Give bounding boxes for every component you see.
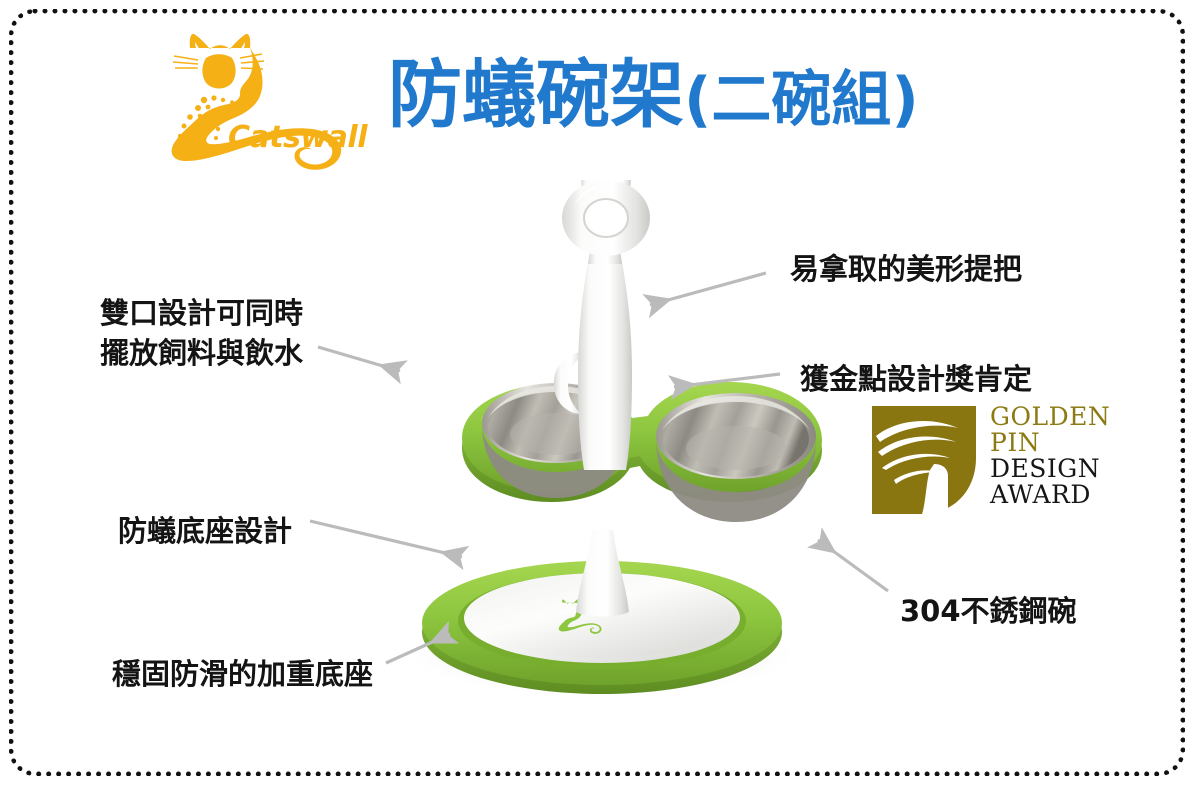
- cat-body-column: [578, 262, 632, 470]
- award-line-design: DESIGN: [990, 456, 1110, 482]
- award-line-golden: GOLDEN: [990, 404, 1110, 430]
- annotation-handle-line1: 易拿取的美形提把: [790, 250, 1022, 288]
- page-title: 防蟻碗架(二碗組): [388, 58, 919, 132]
- page-title-sub: (二碗組): [684, 65, 919, 135]
- annotation-handle: 易拿取的美形提把: [790, 250, 1022, 288]
- cat-ring-handle: [562, 180, 650, 256]
- center-post: [576, 530, 629, 617]
- award-line-pin: PIN: [990, 430, 1110, 456]
- annotation-anti-ant-base-line1: 防蟻底座設計: [118, 512, 292, 550]
- infographic-canvas: Catswall 防蟻碗架(二碗組): [0, 0, 1200, 791]
- annotation-steel-bowl: 304不銹鋼碗: [900, 592, 1077, 630]
- award-line-award: AWARD: [990, 482, 1110, 508]
- annotation-award: 獲金點設計獎肯定: [800, 360, 1032, 398]
- annotation-award-line1: 獲金點設計獎肯定: [800, 360, 1032, 398]
- page-title-main: 防蟻碗架: [388, 52, 684, 138]
- golden-pin-mark-icon: [872, 406, 976, 514]
- golden-pin-award-logo: GOLDEN PIN DESIGN AWARD: [872, 404, 1104, 526]
- catswall-wordmark: Catswall: [228, 120, 367, 155]
- right-steel-bowl: [656, 393, 816, 522]
- product-illustration: [330, 180, 870, 700]
- annotation-weighted-base: 穩固防滑的加重底座: [112, 655, 373, 693]
- golden-pin-award-text: GOLDEN PIN DESIGN AWARD: [990, 404, 1110, 508]
- annotation-dual-bowl-line1: 雙口設計可同時: [100, 293, 303, 333]
- catswall-logo: Catswall: [162, 28, 352, 173]
- annotation-anti-ant-base: 防蟻底座設計: [118, 512, 292, 550]
- annotation-steel-bowl-line1: 304不銹鋼碗: [900, 592, 1077, 630]
- annotation-dual-bowl: 雙口設計可同時 擺放飼料與飲水: [100, 293, 303, 373]
- annotation-dual-bowl-line2: 擺放飼料與飲水: [100, 333, 303, 373]
- annotation-weighted-base-line1: 穩固防滑的加重底座: [112, 655, 373, 693]
